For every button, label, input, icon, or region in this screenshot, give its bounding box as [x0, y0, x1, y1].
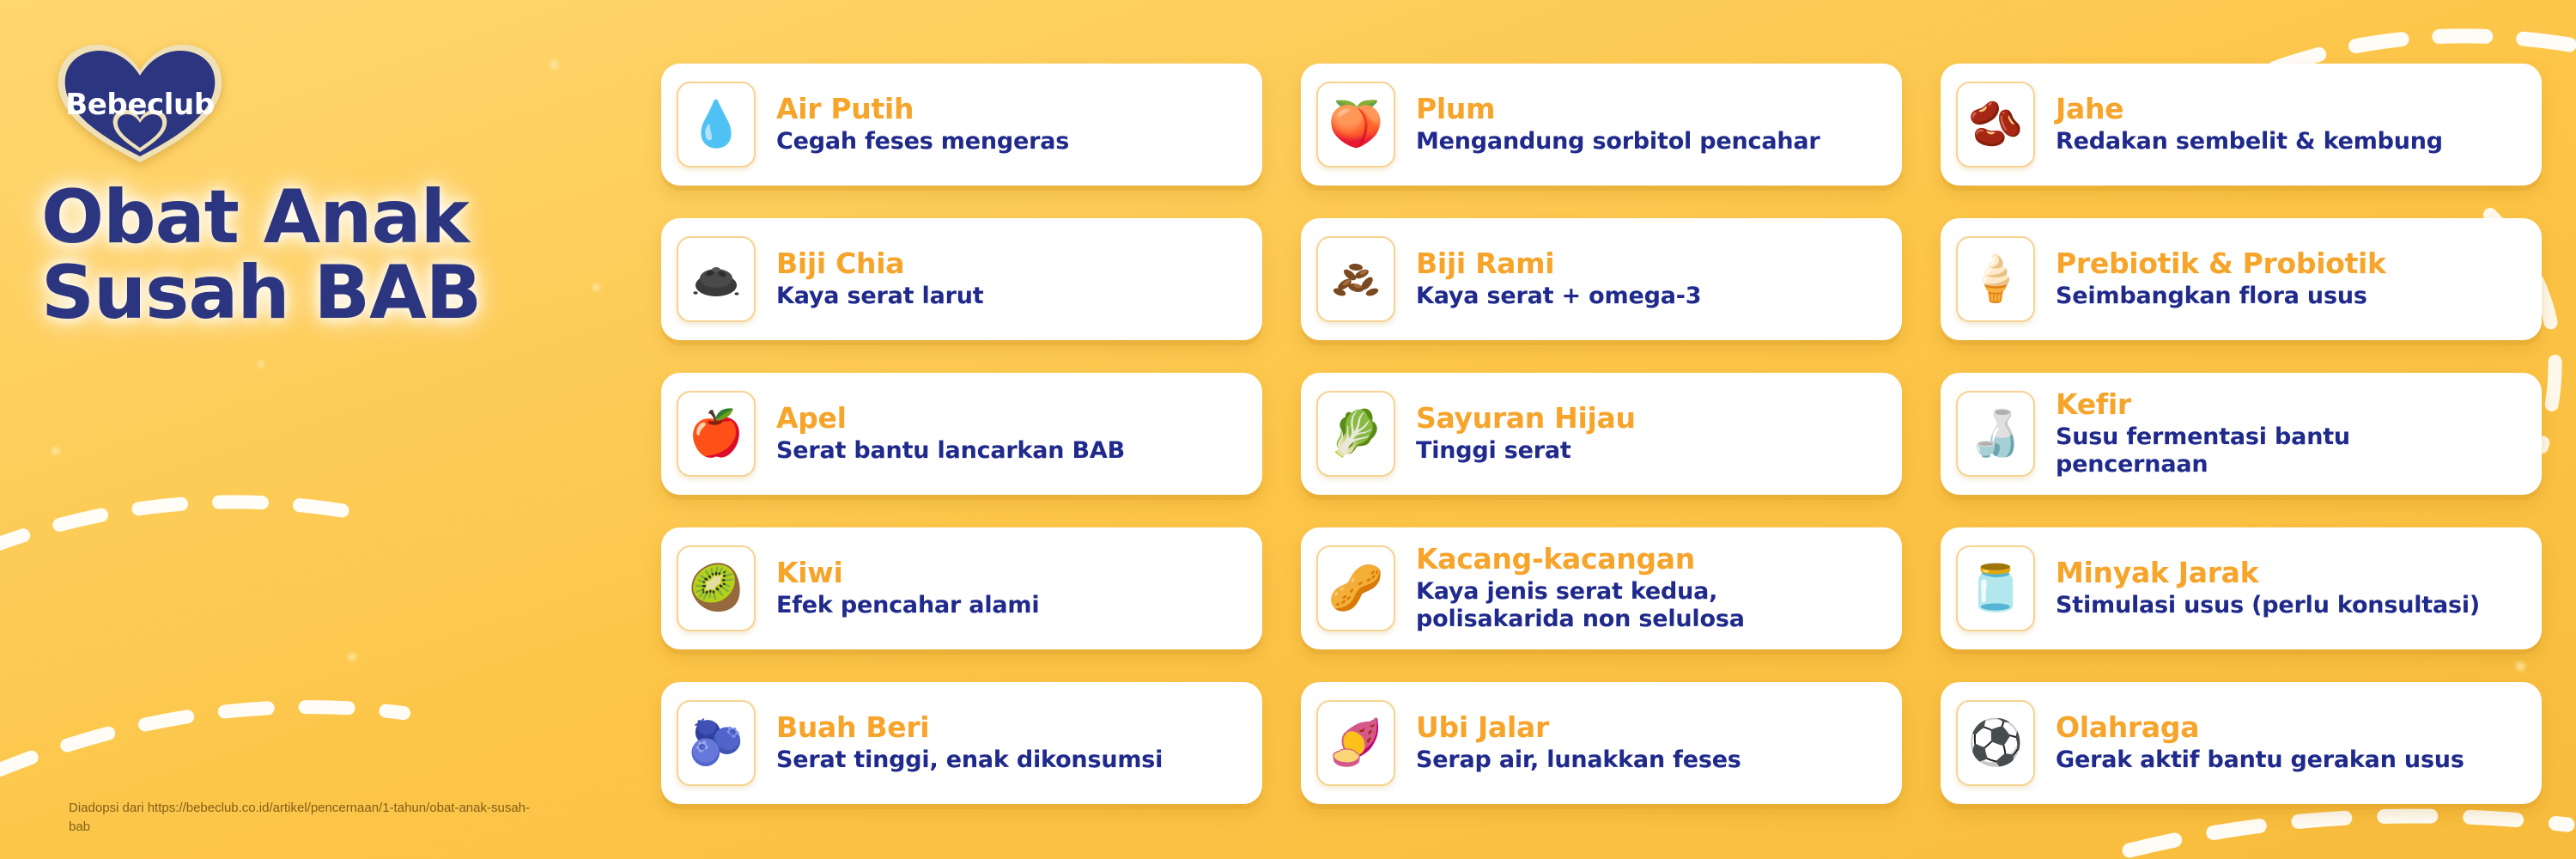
remedy-card-text: Kacang-kacanganKaya jenis serat kedua,po…	[1416, 544, 1745, 634]
apple-icon: 🍎	[677, 391, 756, 477]
remedy-card-subtitle: Seimbangkan flora usus	[2056, 283, 2386, 310]
remedy-card-text: Ubi JalarSerap air, lunakkan feses	[1416, 712, 1741, 774]
remedy-card-kiwi[interactable]: 🥝KiwiEfek pencahar alami	[661, 527, 1262, 649]
remedy-card-text: KefirSusu fermentasi bantupencernaan	[2056, 389, 2350, 479]
remedy-card-title: Kefir	[2056, 389, 2350, 421]
remedy-card-title: Jahe	[2056, 94, 2443, 125]
remedy-card-air-putih[interactable]: 💧Air PutihCegah feses mengeras	[661, 64, 1262, 186]
headline-line-2: Susah BAB	[41, 256, 625, 332]
remedy-card-title: Ubi Jalar	[1416, 712, 1741, 744]
remedy-card-minyak-jarak[interactable]: 🫙Minyak JarakStimulasi usus (perlu konsu…	[1941, 527, 2542, 649]
remedy-card-biji-rami[interactable]: Biji RamiKaya serat + omega-3	[1301, 218, 1902, 340]
remedy-card-subtitle: Kaya jenis serat kedua,polisakarida non …	[1416, 578, 1745, 634]
remedy-card-kacang-kacangan[interactable]: 🥜Kacang-kacanganKaya jenis serat kedua,p…	[1301, 527, 1902, 649]
milk-bottle-icon: 🍶	[1956, 391, 2035, 477]
remedy-card-jahe[interactable]: 🫘JaheRedakan sembelit & kembung	[1941, 64, 2542, 186]
remedy-card-text: Biji ChiaKaya serat larut	[776, 248, 983, 310]
remedy-card-title: Biji Rami	[1416, 248, 1701, 280]
remedy-card-subtitle: Redakan sembelit & kembung	[2056, 128, 2443, 155]
sweet-potato-icon: 🍠	[1316, 700, 1395, 786]
soccer-ball-icon: ⚽	[1956, 700, 2035, 786]
remedy-card-title: Kacang-kacangan	[1416, 544, 1745, 576]
plum-icon: 🍑	[1316, 82, 1395, 168]
remedy-card-apel[interactable]: 🍎ApelSerat bantu lancarkan BAB	[661, 373, 1262, 495]
remedy-card-text: OlahragaGerak aktif bantu gerakan usus	[2056, 712, 2464, 774]
blueberries-icon: 🫐	[677, 700, 756, 786]
remedy-card-kefir[interactable]: 🍶KefirSusu fermentasi bantupencernaan	[1941, 373, 2542, 495]
oil-bottle-icon: 🫙	[1956, 545, 2035, 631]
remedy-card-grid: 💧Air PutihCegah feses mengeras🍑PlumMenga…	[661, 64, 2542, 802]
yogurt-cup-icon: 🍦	[1956, 236, 2035, 322]
remedy-card-subtitle: Serap air, lunakkan feses	[1416, 746, 1741, 774]
chia-seeds-icon	[677, 236, 756, 322]
remedy-card-text: PlumMengandung sorbitol pencahar	[1416, 94, 1820, 155]
remedy-card-text: JaheRedakan sembelit & kembung	[2056, 94, 2443, 155]
left-panel: Bebeclub Obat Anak Susah BAB Diadopsi da…	[0, 0, 635, 859]
remedy-card-title: Biji Chia	[776, 248, 983, 280]
remedy-card-olahraga[interactable]: ⚽OlahragaGerak aktif bantu gerakan usus	[1941, 682, 2542, 804]
remedy-card-title: Buah Beri	[776, 712, 1163, 744]
water-drop-icon: 💧	[677, 82, 756, 168]
remedy-card-subtitle: Serat tinggi, enak dikonsumsi	[776, 746, 1163, 774]
remedy-card-title: Minyak Jarak	[2056, 557, 2480, 589]
kiwi-icon: 🥝	[677, 545, 756, 631]
remedy-card-text: Prebiotik & ProbiotikSeimbangkan flora u…	[2056, 248, 2386, 310]
remedy-card-title: Kiwi	[776, 557, 1039, 589]
remedy-card-subtitle: Mengandung sorbitol pencahar	[1416, 128, 1820, 155]
remedy-card-subtitle: Tinggi serat	[1416, 437, 1636, 465]
remedy-card-title: Sayuran Hijau	[1416, 403, 1636, 435]
remedy-card-text: KiwiEfek pencahar alami	[776, 557, 1039, 619]
remedy-card-ubi-jalar[interactable]: 🍠Ubi JalarSerap air, lunakkan feses	[1301, 682, 1902, 804]
source-attribution: Diadopsi dari https://bebeclub.co.id/art…	[69, 799, 532, 837]
remedy-card-text: Buah BeriSerat tinggi, enak dikonsumsi	[776, 712, 1163, 774]
remedy-card-text: Minyak JarakStimulasi usus (perlu konsul…	[2056, 557, 2480, 619]
remedy-card-biji-chia[interactable]: Biji ChiaKaya serat larut	[661, 218, 1262, 340]
page-title: Obat Anak Susah BAB	[41, 180, 625, 331]
remedy-card-title: Air Putih	[776, 94, 1069, 125]
remedy-card-text: ApelSerat bantu lancarkan BAB	[776, 403, 1125, 465]
remedy-card-subtitle: Gerak aktif bantu gerakan usus	[2056, 746, 2464, 774]
remedy-card-subtitle: Susu fermentasi bantupencernaan	[2056, 423, 2350, 479]
remedy-card-prebiotik-probiotik[interactable]: 🍦Prebiotik & ProbiotikSeimbangkan flora …	[1941, 218, 2542, 340]
remedy-card-title: Olahraga	[2056, 712, 2464, 744]
remedy-card-text: Sayuran HijauTinggi serat	[1416, 403, 1636, 465]
remedy-card-text: Biji RamiKaya serat + omega-3	[1416, 248, 1701, 310]
remedy-card-title: Prebiotik & Probiotik	[2056, 248, 2386, 280]
remedy-card-buah-beri[interactable]: 🫐Buah BeriSerat tinggi, enak dikonsumsi	[661, 682, 1262, 804]
remedy-card-title: Apel	[776, 403, 1125, 435]
infographic-canvas: Bebeclub Obat Anak Susah BAB Diadopsi da…	[0, 0, 2576, 859]
remedy-card-plum[interactable]: 🍑PlumMengandung sorbitol pencahar	[1301, 64, 1902, 186]
headline-line-1: Obat Anak	[41, 174, 469, 260]
remedy-card-subtitle: Cegah feses mengeras	[776, 128, 1069, 155]
ginger-root-icon: 🫘	[1956, 82, 2035, 168]
remedy-card-title: Plum	[1416, 94, 1820, 125]
flax-seeds-icon	[1316, 236, 1395, 322]
remedy-card-subtitle: Efek pencahar alami	[776, 592, 1039, 619]
remedy-card-sayuran-hijau[interactable]: 🥬Sayuran HijauTinggi serat	[1301, 373, 1902, 495]
logo-wordmark: Bebeclub	[50, 88, 230, 122]
bebeclub-logo: Bebeclub	[50, 40, 230, 168]
peanuts-icon: 🥜	[1316, 545, 1395, 631]
remedy-card-subtitle: Kaya serat larut	[776, 283, 983, 310]
remedy-card-subtitle: Serat bantu lancarkan BAB	[776, 437, 1125, 465]
remedy-card-subtitle: Stimulasi usus (perlu konsultasi)	[2056, 592, 2480, 619]
remedy-card-text: Air PutihCegah feses mengeras	[776, 94, 1069, 155]
remedy-card-subtitle: Kaya serat + omega-3	[1416, 283, 1701, 310]
leafy-green-icon: 🥬	[1316, 391, 1395, 477]
